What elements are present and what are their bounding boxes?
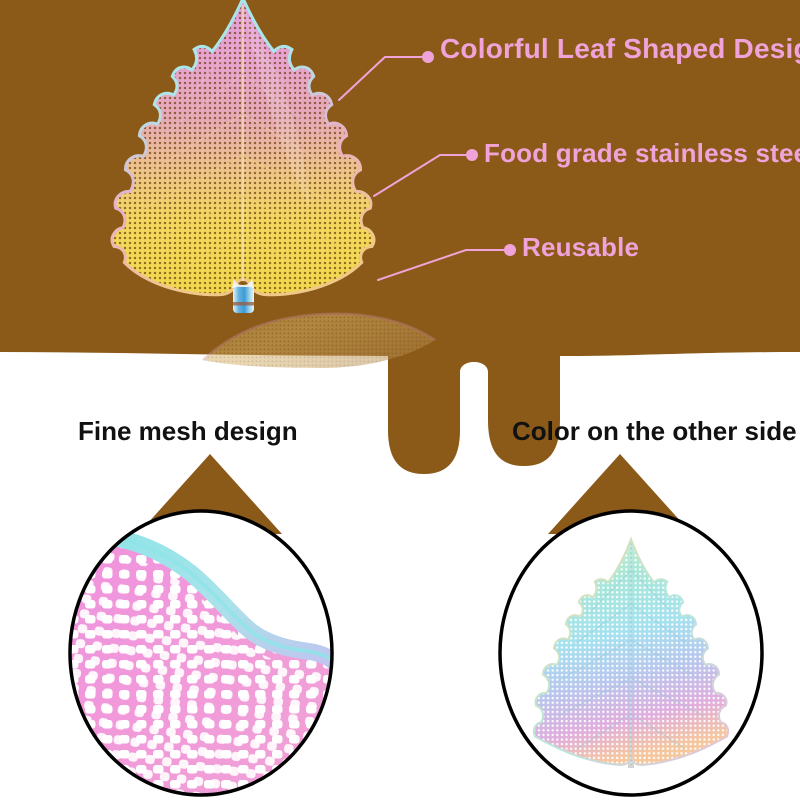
reverse-leaf-content bbox=[496, 508, 766, 798]
mesh-closeup-content bbox=[66, 508, 336, 798]
callout-label-3: Reusable bbox=[522, 232, 639, 263]
detail-heading-right: Color on the other side bbox=[512, 416, 797, 447]
callout-line-3 bbox=[378, 250, 506, 280]
detail-inset-left bbox=[66, 508, 336, 798]
callout-dot-1 bbox=[422, 51, 434, 63]
detail-heading-left: Fine mesh design bbox=[78, 416, 298, 447]
callout-label-2: Food grade stainless steel bbox=[484, 138, 800, 169]
infographic-canvas: Colorful Leaf Shaped Design Food grade s… bbox=[0, 0, 800, 800]
callout-line-1 bbox=[339, 57, 424, 100]
callout-line-2 bbox=[374, 155, 468, 196]
detail-inset-right bbox=[496, 508, 766, 798]
callout-dot-3 bbox=[504, 244, 516, 256]
callout-dot-2 bbox=[466, 149, 478, 161]
callout-label-1: Colorful Leaf Shaped Design bbox=[440, 33, 800, 65]
